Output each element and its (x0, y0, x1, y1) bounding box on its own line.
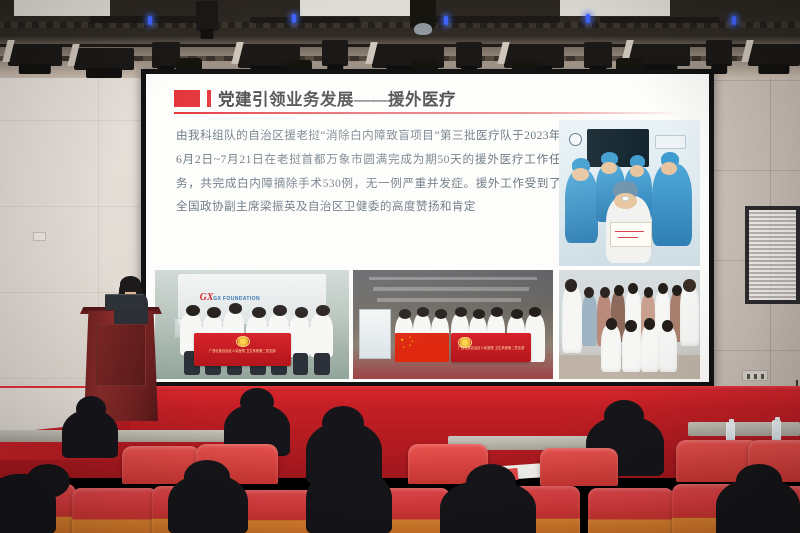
auditorium-seat[interactable] (540, 448, 618, 486)
spotlight-fixture (8, 44, 62, 66)
blue-led-indicator (732, 16, 736, 25)
moving-head-light (410, 0, 436, 28)
party-branch-banner: 广西壮族自治区人民医院 卫生系统第二党支部 (451, 333, 531, 361)
slide-title-row: 党建引领业务发展——援外医疗 (174, 86, 456, 110)
spotlight-fixture (456, 42, 482, 68)
banner-text-line1: 广西壮族自治区人民医院 卫生系统第二党支部 (194, 349, 291, 354)
vehicle-text: GX FOUNDATION (213, 296, 260, 302)
wall-switch (33, 232, 46, 241)
title-accent-block (174, 90, 200, 107)
title-accent-bar (207, 90, 211, 107)
slide-body-text: 由我科组队的自治区援老挝“消除白内障致盲项目”第三批医疗队于2023年6月2日~… (176, 124, 561, 219)
photo-operating-team (559, 120, 700, 266)
audience-person-head (604, 400, 644, 432)
photo-medical-staff-group (559, 270, 700, 379)
spotlight-fixture (322, 40, 348, 66)
blue-led-indicator (148, 16, 152, 25)
audience-person-head (466, 464, 516, 502)
audience-person-head (736, 464, 782, 498)
auditorium-seat[interactable] (588, 488, 674, 533)
audience-person-head (324, 454, 372, 490)
audience-area (0, 414, 800, 533)
audience-person-head (322, 406, 364, 440)
spotlight-fixture (74, 48, 134, 70)
screen-surface: 党建引领业务发展——援外医疗 由我科组队的自治区援老挝“消除白内障致盲项目”第三… (146, 74, 709, 382)
audience-person-head (184, 460, 230, 494)
spotlight-fixture (196, 1, 218, 31)
blue-led-indicator (586, 14, 590, 23)
photo-hall-ceremony: ★ ★ ★ ★ ★ 广西壮族自治区人民医院 卫生系统第二党支部 (353, 270, 553, 379)
title-underline (174, 112, 680, 114)
audience-person-head (240, 388, 274, 416)
led-display-screen: 党建引领业务发展——援外医疗 由我科组队的自治区援老挝“消除白内障致盲项目”第三… (141, 69, 714, 387)
ceiling-lighting-rig (0, 0, 800, 78)
spotlight-fixture (706, 40, 732, 66)
spotlight-fixture (748, 44, 800, 66)
blue-led-indicator (292, 14, 296, 23)
blue-led-indicator (444, 16, 448, 25)
auditorium-seat[interactable] (72, 488, 158, 533)
national-flag: ★ ★ ★ ★ ★ (395, 333, 449, 361)
window-with-blinds (745, 206, 800, 304)
banner-text-line1: 广西壮族自治区人民医院 卫生系统第二党支部 (451, 346, 531, 351)
party-branch-banner: 广西壮族自治区人民医院 卫生系统第二党支部 (194, 333, 291, 366)
photo-outdoor-team: GX GX FOUNDATION (155, 270, 349, 379)
slide-title: 党建引领业务发展——援外医疗 (218, 86, 456, 110)
audience-person-head (26, 464, 70, 498)
presenter-laptop (105, 294, 143, 310)
podium-front-panel (96, 324, 146, 386)
vehicle-logo: GX (200, 292, 214, 303)
audience-person-head (76, 396, 106, 422)
conference-hall-photo: 党建引领业务发展——援外医疗 由我科组队的自治区援老挝“消除白内障致盲项目”第三… (0, 0, 800, 533)
presentation-slide: 党建引领业务发展——援外医疗 由我科组队的自治区援老挝“消除白内障致盲项目”第三… (146, 74, 709, 382)
spotlight-fixture (584, 42, 612, 68)
conference-desk (688, 422, 800, 436)
